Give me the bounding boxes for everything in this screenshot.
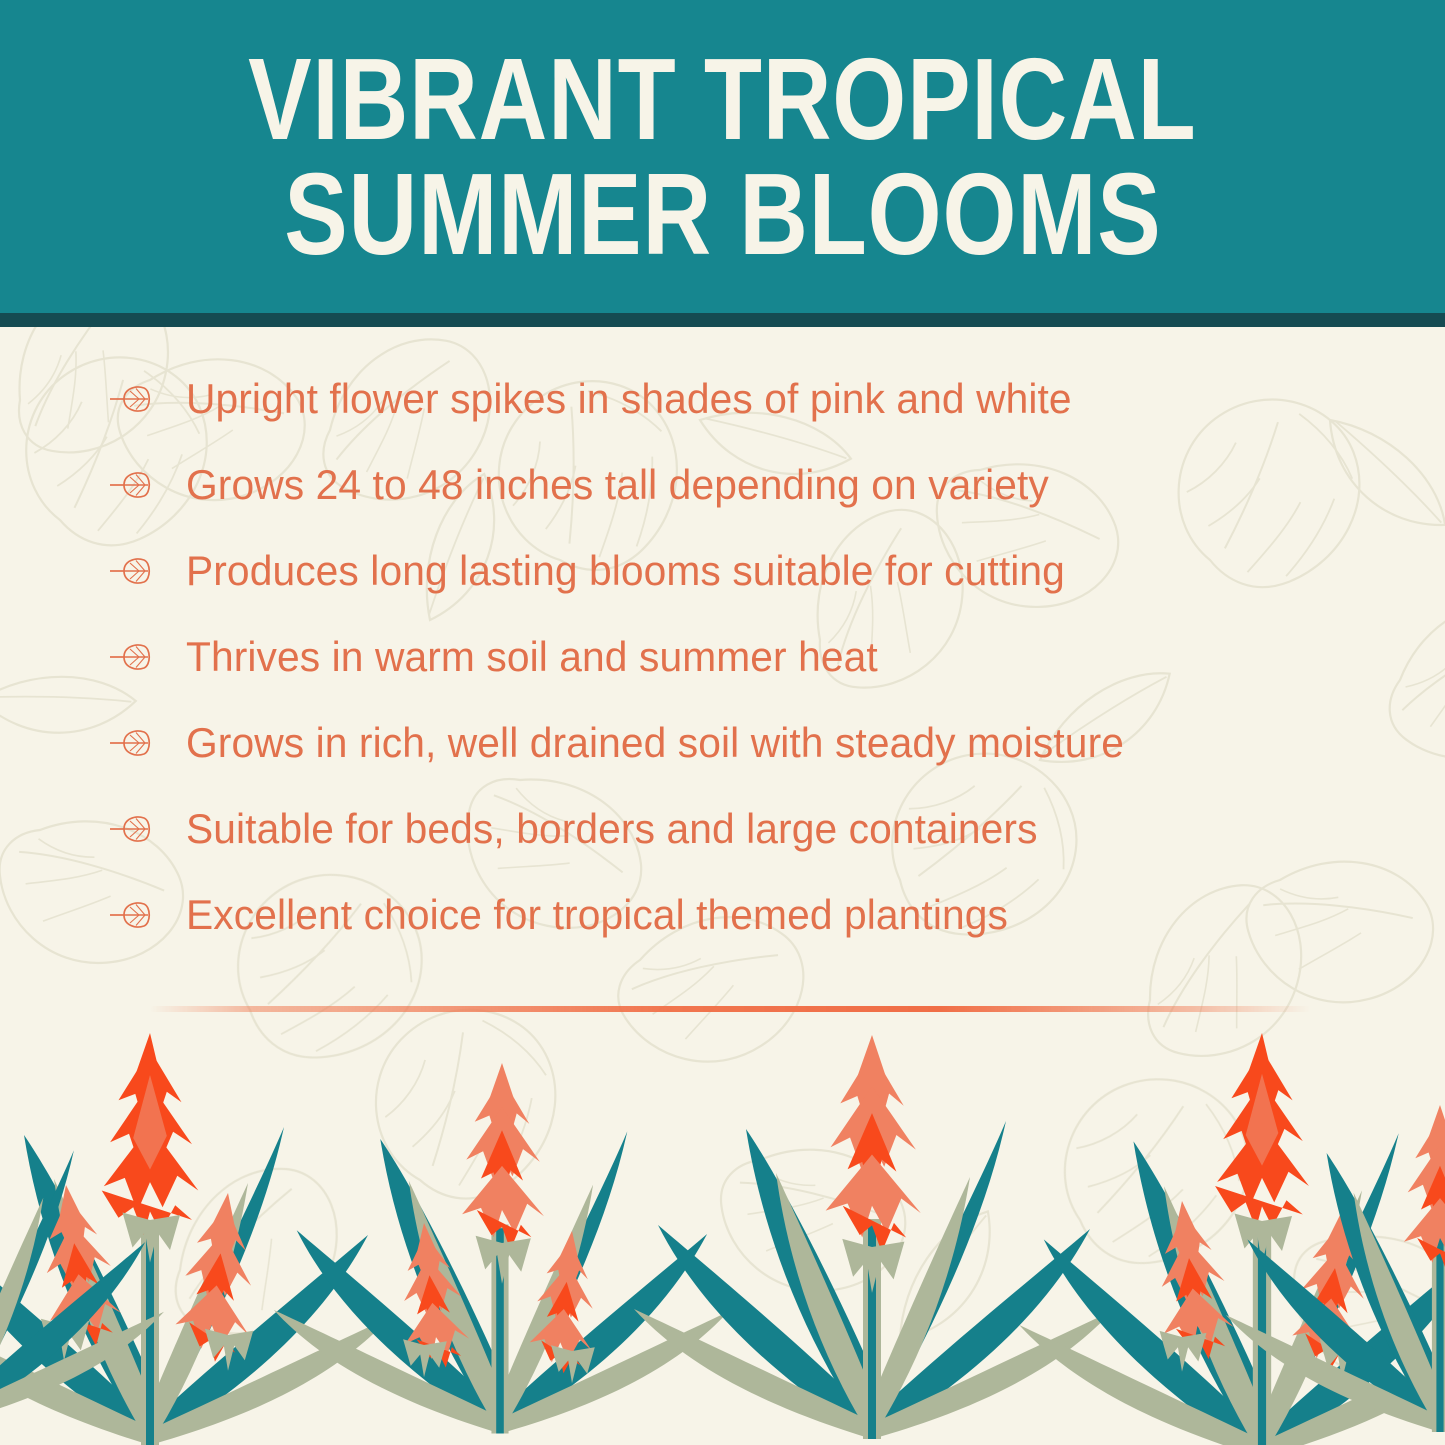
section-divider xyxy=(150,1006,1310,1012)
leaf-icon xyxy=(108,554,154,588)
list-item-label: Excellent choice for tropical themed pla… xyxy=(186,892,1008,938)
leaf-icon xyxy=(108,640,154,674)
list-item-label: Suitable for beds, borders and large con… xyxy=(186,806,1038,852)
leaf-icon xyxy=(108,898,154,932)
list-item: Thrives in warm soil and summer heat xyxy=(108,614,1358,700)
list-item-label: Produces long lasting blooms suitable fo… xyxy=(186,548,1065,594)
leaf-icon xyxy=(108,812,154,846)
list-item: Grows in rich, well drained soil with st… xyxy=(108,700,1358,786)
leaf-icon xyxy=(108,468,154,502)
page-title-line-1: VIBRANT TROPICAL xyxy=(248,42,1196,157)
leaf-icon xyxy=(108,382,154,416)
tropical-flower-illustration xyxy=(0,1015,1445,1445)
list-item: Suitable for beds, borders and large con… xyxy=(108,786,1358,872)
list-item: Produces long lasting blooms suitable fo… xyxy=(108,528,1358,614)
page-title-line-2: SUMMER BLOOMS xyxy=(284,157,1161,272)
infographic-poster: VIBRANT TROPICAL SUMMER BLOOMS Upright f… xyxy=(0,0,1445,1445)
list-item: Excellent choice for tropical themed pla… xyxy=(108,872,1358,958)
leaf-icon xyxy=(108,726,154,760)
list-item-label: Grows in rich, well drained soil with st… xyxy=(186,720,1124,766)
feature-bullet-list: Upright flower spikes in shades of pink … xyxy=(108,356,1358,958)
list-item: Upright flower spikes in shades of pink … xyxy=(108,356,1358,442)
list-item: Grows 24 to 48 inches tall depending on … xyxy=(108,442,1358,528)
list-item-label: Upright flower spikes in shades of pink … xyxy=(186,376,1072,422)
header-bottom-rule xyxy=(0,313,1445,327)
list-item-label: Grows 24 to 48 inches tall depending on … xyxy=(186,462,1049,508)
list-item-label: Thrives in warm soil and summer heat xyxy=(186,634,878,680)
poster-header: VIBRANT TROPICAL SUMMER BLOOMS xyxy=(0,0,1445,313)
